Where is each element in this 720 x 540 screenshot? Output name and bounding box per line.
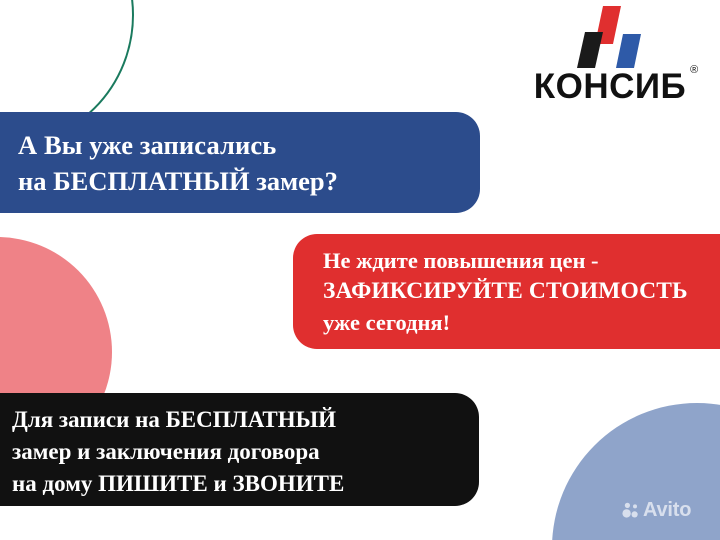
headline-banner-black: Для записи на БЕСПЛАТНЫЙ замер и заключе…	[0, 393, 479, 506]
avito-wordmark: Avito	[643, 500, 691, 520]
banner-red-line-2: ЗАФИКСИРУЙТЕ СТОИМОСТЬ	[323, 276, 720, 308]
banner-black-line-3: на дому ПИШИТЕ и ЗВОНИТЕ	[12, 468, 479, 500]
banner-blue-line-1: А Вы уже записались	[18, 127, 480, 163]
registered-trademark-icon: ®	[690, 65, 698, 76]
headline-banner-red: Не ждите повышения цен - ЗАФИКСИРУЙТЕ СТ…	[293, 234, 720, 349]
brand-logo: КОНСИБ ®	[512, 4, 708, 108]
banner-red-line-3: уже сегодня!	[323, 308, 720, 338]
avito-dots-icon	[622, 502, 639, 519]
banner-red-line-1: Не ждите повышения цен -	[323, 246, 720, 276]
banner-blue-line-2: на БЕСПЛАТНЫЙ замер?	[18, 163, 480, 199]
headline-banner-blue: А Вы уже записались на БЕСПЛАТНЫЙ замер?	[0, 112, 480, 213]
banner-black-line-1: Для записи на БЕСПЛАТНЫЙ	[12, 404, 479, 436]
banner-black-line-2: замер и заключения договора	[12, 436, 479, 468]
avito-watermark: Avito	[622, 500, 691, 520]
brand-wordmark: КОНСИБ	[534, 69, 686, 104]
three-parallelograms-mark-icon	[573, 4, 647, 70]
brand-wordmark-wrap: КОНСИБ ®	[534, 69, 686, 104]
poster-canvas: КОНСИБ ® А Вы уже записались на БЕСПЛАТН…	[0, 0, 720, 540]
